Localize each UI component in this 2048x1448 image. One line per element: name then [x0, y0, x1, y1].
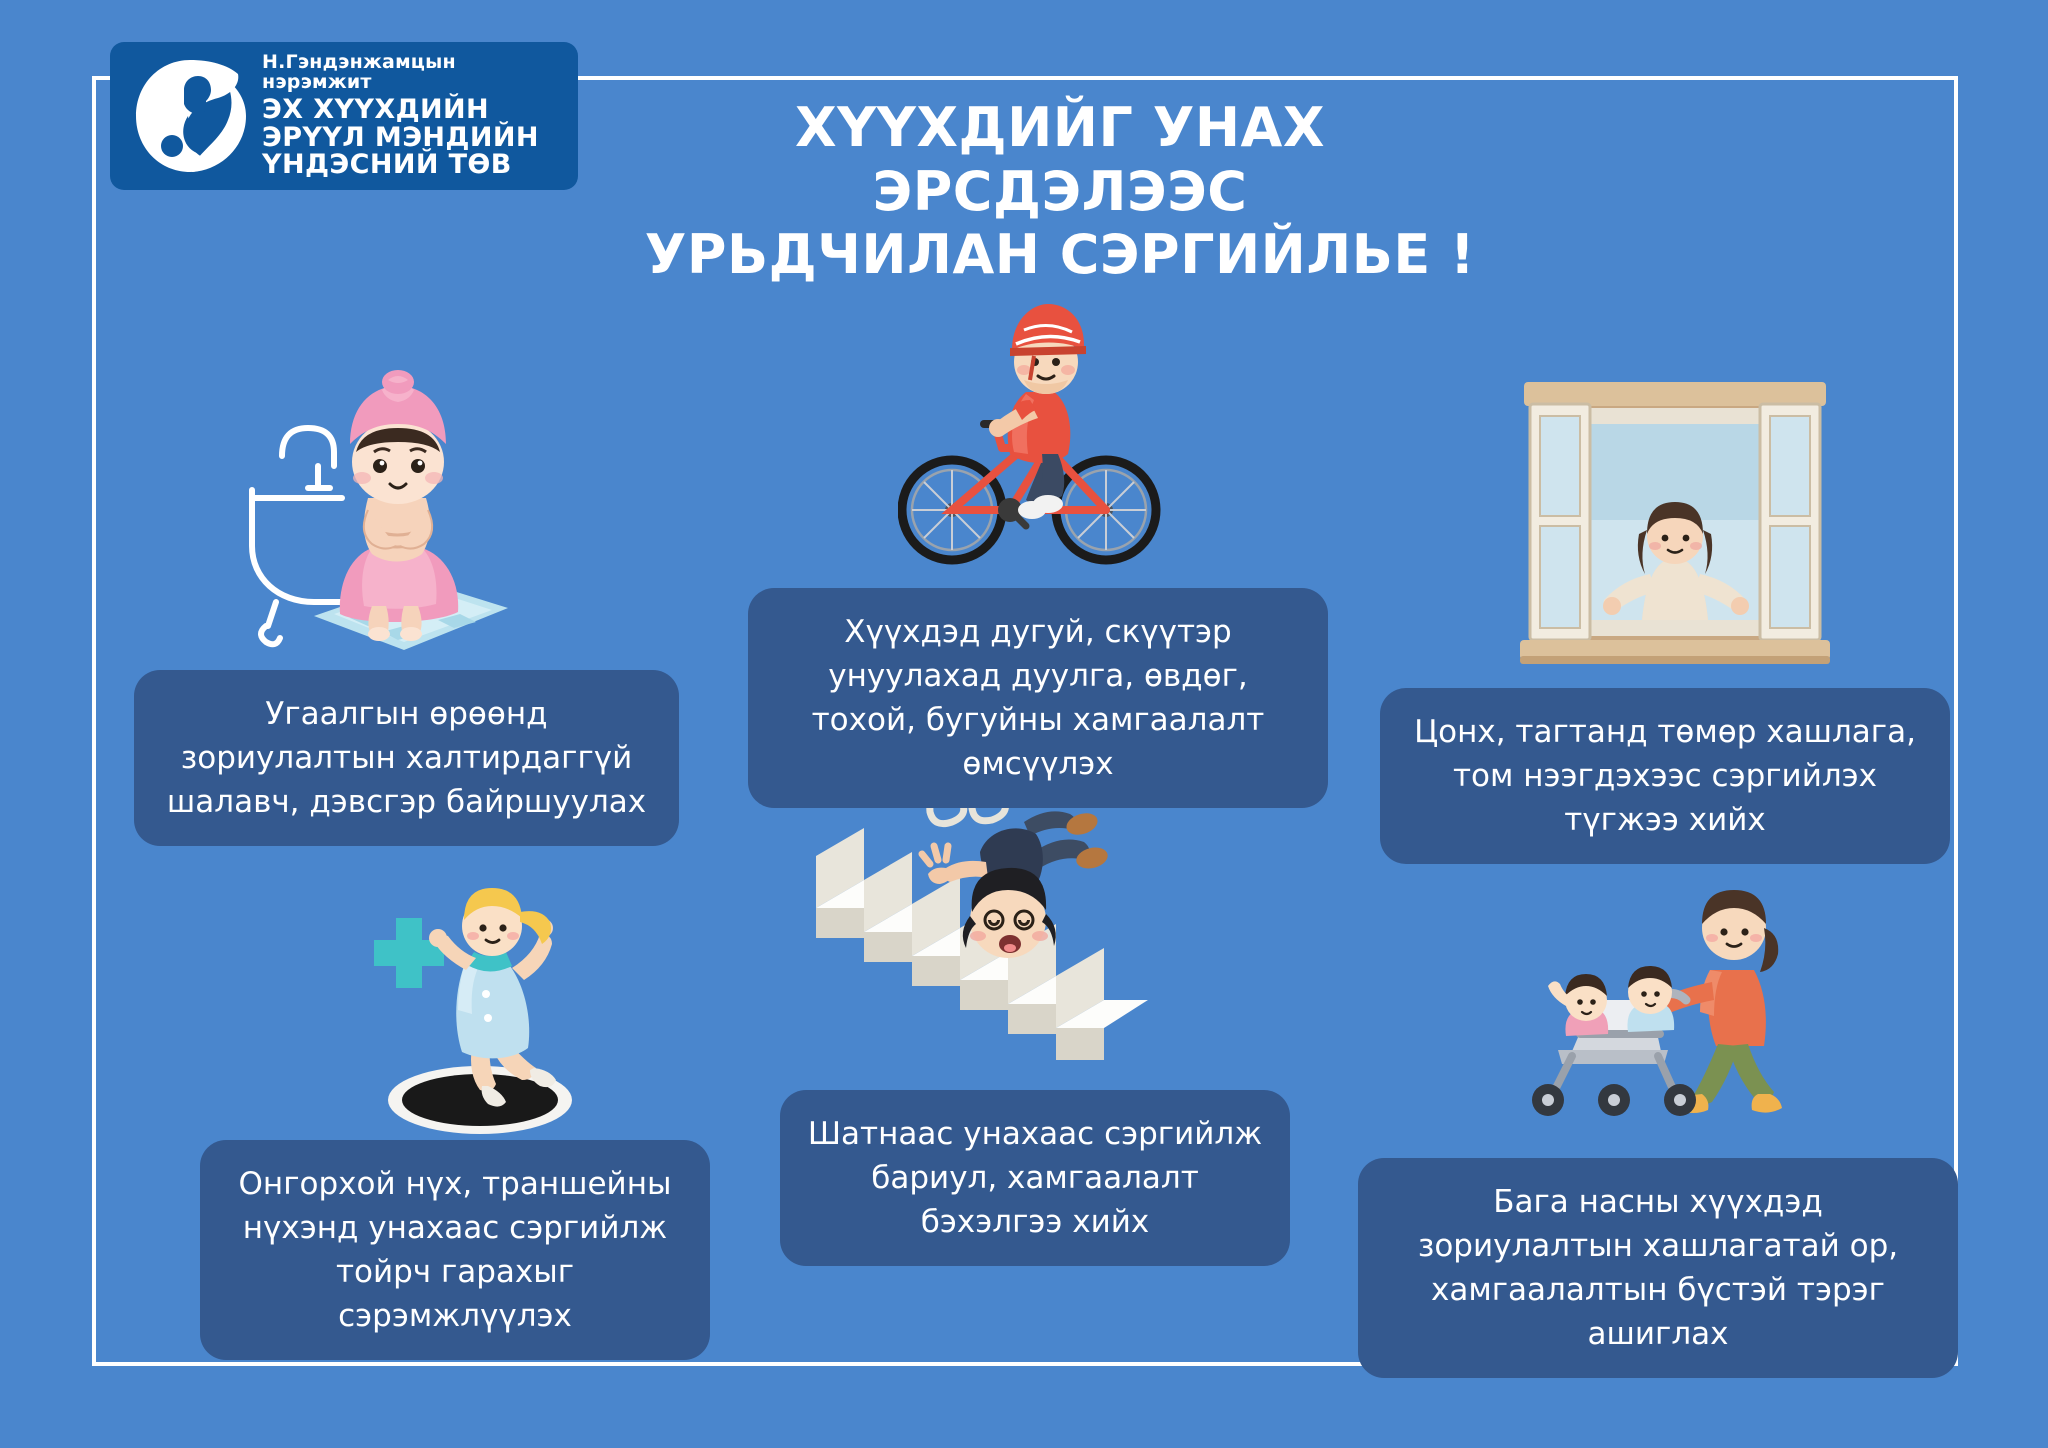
caption-open-hole: Онгорхой нүх, траншейны нүхэнд унахаас с…	[200, 1140, 710, 1360]
mother-child-yin-yang-logo-icon	[128, 54, 252, 178]
caption-bicycle: Хүүхдэд дугуй, скүүтэр унуулахад дуулга,…	[748, 588, 1328, 808]
logo-text-block: Н.Гэндэнжамцын нэрэмжит ЭХ ХҮҮХДИЙН ЭРҮҮ…	[262, 53, 562, 178]
twin-stroller	[1532, 966, 1696, 1116]
caption-stairs: Шатнаас унахаас сэргийлж бариул, хамгаал…	[780, 1090, 1290, 1266]
girl-near-open-manhole-illustration	[352, 842, 642, 1142]
infographic-canvas: Н.Гэндэнжамцын нэрэмжит ЭХ ХҮҮХДИЙН ЭРҮҮ…	[0, 0, 2048, 1448]
baby-back	[1627, 966, 1674, 1032]
organization-logo: Н.Гэндэнжамцын нэрэмжит ЭХ ХҮҮХДИЙН ЭРҮҮ…	[110, 42, 578, 190]
page-title: ХҮҮХДИЙГ УНАХ ЭРСДЭЛЭЭС УРЬДЧИЛАН СЭРГИЙ…	[600, 96, 1520, 287]
logo-line-3: ҮНДЭСНИЙ ТӨВ	[262, 151, 562, 179]
logo-line-2: ЭРҮҮЛ МЭНДИЙН	[262, 124, 562, 152]
caption-bathroom: Угаалгын өрөөнд зориулалтын халтирдаггүй…	[134, 670, 679, 846]
baby-in-bathtub-illustration	[222, 370, 552, 670]
caption-stroller: Бага насны хүүхдэд зориулалтын хашлагата…	[1358, 1158, 1958, 1378]
woman-opening-window-illustration	[1510, 378, 1840, 688]
child-falling-down-stairs-illustration	[810, 760, 1150, 1090]
caption-window: Цонх, тагтанд төмөр хашлага, том нээгдэх…	[1380, 688, 1950, 864]
baby-front	[1548, 974, 1608, 1036]
logo-line-1: ЭХ ХҮҮХДИЙН	[262, 96, 562, 124]
logo-subtitle: Н.Гэндэнжамцын нэрэмжит	[262, 53, 562, 92]
first-aid-cross-icon	[374, 918, 444, 988]
mother-pushing-twin-stroller-illustration	[1462, 850, 1822, 1140]
title-line-2: УРЬДЧИЛАН СЭРГИЙЛЬЕ !	[600, 223, 1520, 287]
child-rider	[989, 304, 1086, 519]
child-riding-bicycle-with-helmet-illustration	[898, 288, 1168, 578]
title-line-1: ХҮҮХДИЙГ УНАХ ЭРСДЭЛЭЭС	[600, 96, 1520, 223]
baby-figure	[340, 370, 458, 641]
